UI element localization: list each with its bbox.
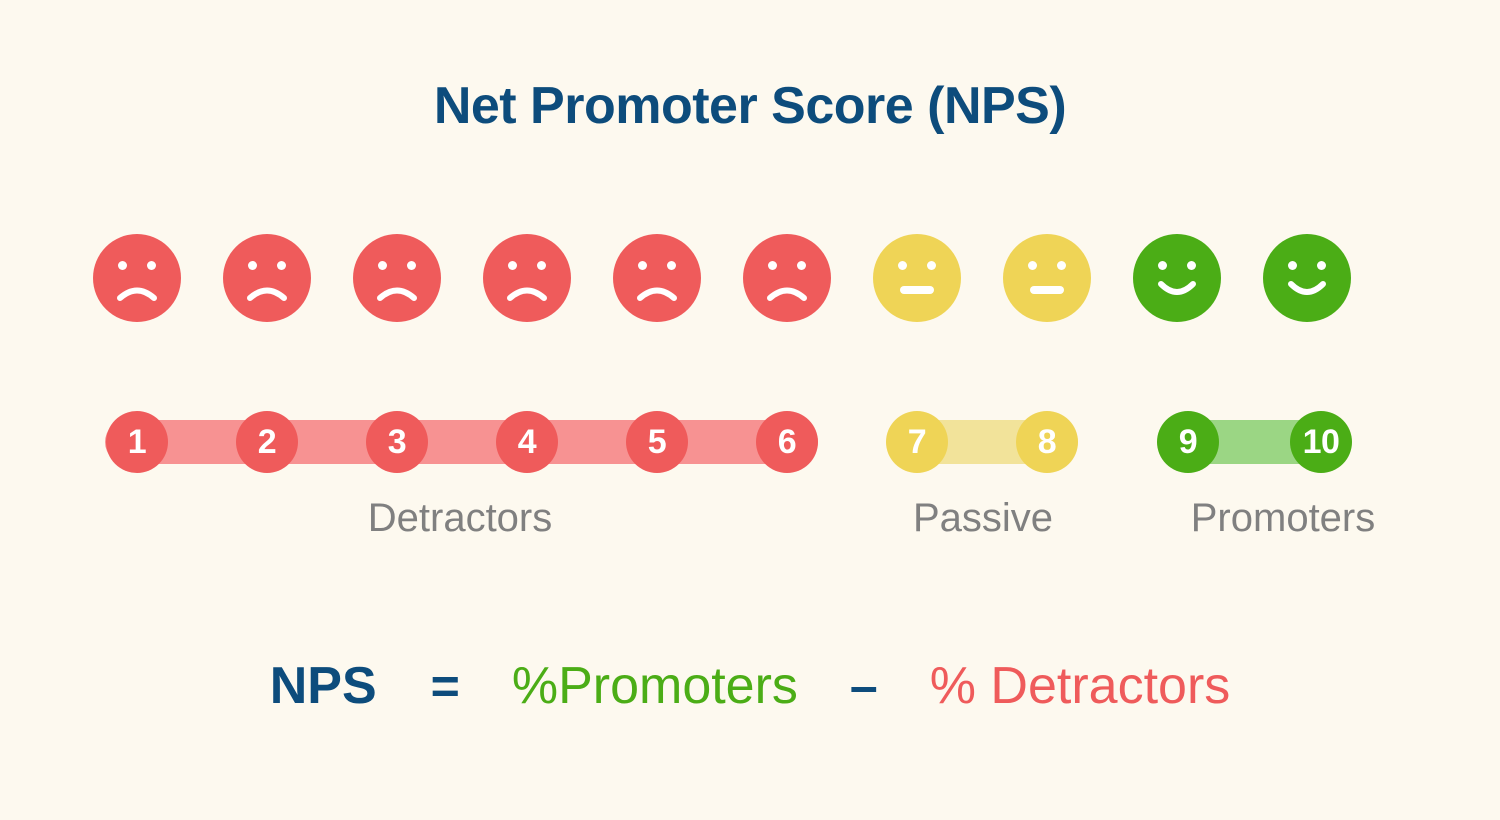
formula-nps-term: NPS [270, 660, 377, 712]
page-title: Net Promoter Score (NPS) [0, 80, 1500, 132]
neutral-face-icon [873, 234, 961, 322]
eye-left-icon [1028, 261, 1037, 270]
sad-face-icon [743, 234, 831, 322]
smile-mouth-icon [1287, 281, 1327, 299]
score-chip-1[interactable]: 1 [106, 411, 168, 473]
smile-mouth-icon [1157, 281, 1197, 299]
eye-left-icon [1288, 261, 1297, 270]
formula-detractors-term: % Detractors [930, 660, 1231, 712]
score-chip-9[interactable]: 9 [1157, 411, 1219, 473]
eye-right-icon [667, 261, 676, 270]
nps-infographic: Net Promoter Score (NPS) [0, 0, 1500, 820]
score-chip-6[interactable]: 6 [756, 411, 818, 473]
eye-left-icon [1158, 261, 1167, 270]
eye-right-icon [797, 261, 806, 270]
frown-mouth-icon [377, 283, 417, 301]
score-chip-5[interactable]: 5 [626, 411, 688, 473]
eye-left-icon [508, 261, 517, 270]
eye-right-icon [1187, 261, 1196, 270]
face-rating-row [93, 234, 1407, 322]
sad-face-icon [483, 234, 571, 322]
eye-left-icon [638, 261, 647, 270]
eye-left-icon [118, 261, 127, 270]
score-chip-3[interactable]: 3 [366, 411, 428, 473]
score-chip-4[interactable]: 4 [496, 411, 558, 473]
eye-left-icon [248, 261, 257, 270]
promoters-label: Promoters [1083, 498, 1483, 538]
formula-minus-sign: – [850, 661, 878, 711]
happy-face-icon [1133, 234, 1221, 322]
score-chip-8[interactable]: 8 [1016, 411, 1078, 473]
formula-promoters-term: %Promoters [512, 660, 798, 712]
frown-mouth-icon [767, 283, 807, 301]
eye-right-icon [1317, 261, 1326, 270]
sad-face-icon [353, 234, 441, 322]
eye-right-icon [147, 261, 156, 270]
score-chip-7[interactable]: 7 [886, 411, 948, 473]
frown-mouth-icon [507, 283, 547, 301]
eye-right-icon [927, 261, 936, 270]
detractors-bar [105, 420, 818, 464]
flat-mouth-icon [1030, 286, 1064, 294]
eye-right-icon [277, 261, 286, 270]
sad-face-icon [223, 234, 311, 322]
formula-equals-sign: = [431, 661, 460, 711]
neutral-face-icon [1003, 234, 1091, 322]
eye-left-icon [898, 261, 907, 270]
eye-left-icon [378, 261, 387, 270]
frown-mouth-icon [117, 283, 157, 301]
eye-right-icon [407, 261, 416, 270]
sad-face-icon [93, 234, 181, 322]
score-chip-10[interactable]: 10 [1290, 411, 1352, 473]
nps-formula: NPS = %Promoters – % Detractors [0, 660, 1500, 712]
eye-right-icon [1057, 261, 1066, 270]
flat-mouth-icon [900, 286, 934, 294]
eye-left-icon [768, 261, 777, 270]
frown-mouth-icon [637, 283, 677, 301]
happy-face-icon [1263, 234, 1351, 322]
eye-right-icon [537, 261, 546, 270]
sad-face-icon [613, 234, 701, 322]
frown-mouth-icon [247, 283, 287, 301]
score-scale: 1 2 3 4 5 6 7 8 9 10 [0, 411, 1500, 473]
score-chip-2[interactable]: 2 [236, 411, 298, 473]
detractors-label: Detractors [180, 498, 740, 538]
